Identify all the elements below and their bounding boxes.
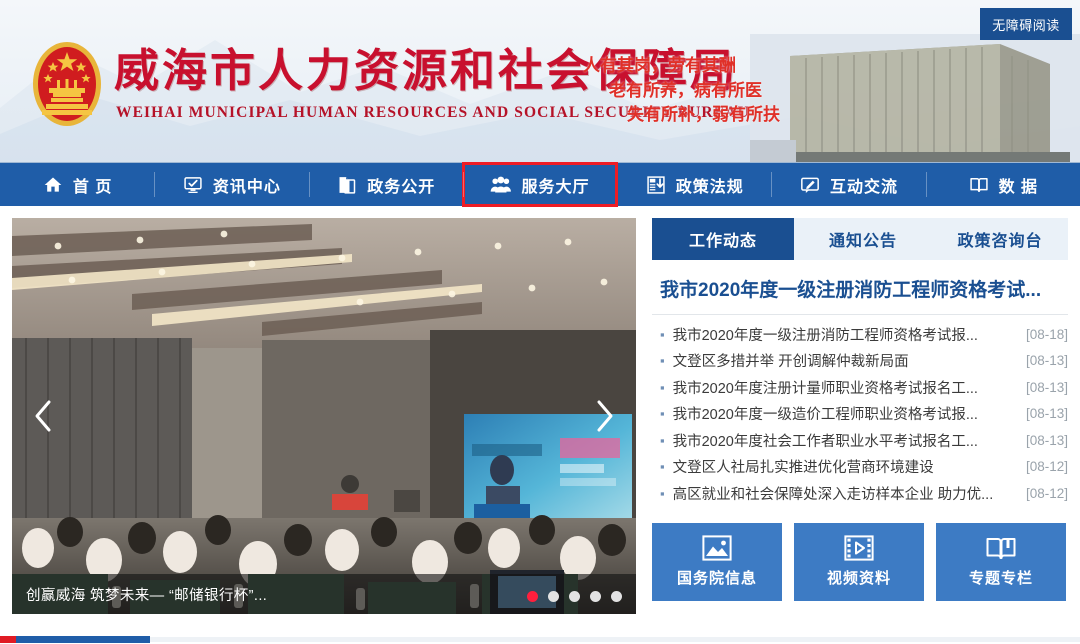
list-item[interactable]: ▪ 我市2020年度注册计量师职业资格考试报名工... [08-13] — [652, 374, 1068, 401]
chevron-right-icon — [594, 399, 616, 433]
bullet-icon: ▪ — [660, 460, 665, 473]
tab-work-updates[interactable]: 工作动态 — [652, 218, 794, 260]
hero-carousel[interactable]: 创赢威海 筑梦未来— “邮储银行杯”... — [12, 218, 636, 614]
divider-accent-blue — [16, 636, 150, 643]
home-icon — [42, 175, 64, 195]
site-header: 威海市人力资源和社会保障局 WEIHAI MUNICIPAL HUMAN RES… — [0, 0, 1080, 162]
slogan-line-3: 失有所补，弱有所扶 — [583, 103, 780, 128]
news-item-title: 我市2020年度一级注册消防工程师资格考试报... — [673, 324, 1018, 345]
card-label: 视频资料 — [827, 567, 891, 588]
nav-label-government-affairs: 政务公开 — [367, 173, 435, 197]
card-special-columns[interactable]: 专题专栏 — [936, 523, 1066, 601]
list-item[interactable]: ▪ 我市2020年度社会工作者职业水平考试报名工... [08-13] — [652, 427, 1068, 454]
list-item[interactable]: ▪ 我市2020年度一级造价工程师职业资格考试报... [08-13] — [652, 401, 1068, 428]
carousel-dot-5[interactable] — [611, 591, 622, 602]
nav-label-news-center: 资讯中心 — [213, 173, 281, 197]
news-item-date: [08-18] — [1026, 327, 1068, 342]
news-item-title: 我市2020年度一级造价工程师职业资格考试报... — [673, 403, 1018, 424]
carousel-dot-4[interactable] — [590, 591, 601, 602]
film-play-icon — [844, 535, 874, 561]
nav-item-service-hall[interactable]: 服务大厅 — [463, 163, 617, 206]
news-item-date: [08-12] — [1026, 486, 1068, 501]
nav-label-policies-regulations: 政策法规 — [676, 173, 744, 197]
main-navigation: 首 页 资讯中心 政务公开 服务大 — [0, 162, 1080, 206]
image-picture-icon — [702, 535, 732, 561]
open-book-icon — [985, 535, 1017, 561]
carousel-prev-button[interactable] — [26, 393, 60, 439]
carousel-dots — [527, 591, 622, 602]
nav-item-government-affairs[interactable]: 政务公开 — [309, 163, 463, 206]
page-root: 威海市人力资源和社会保障局 WEIHAI MUNICIPAL HUMAN RES… — [0, 0, 1080, 644]
news-item-date: [08-13] — [1026, 433, 1068, 448]
list-item[interactable]: ▪ 文登区多措并举 开创调解仲裁新局面 [08-13] — [652, 348, 1068, 375]
nav-label-interaction: 互动交流 — [830, 173, 898, 197]
carousel-photo — [12, 218, 636, 614]
nav-item-home[interactable]: 首 页 — [0, 163, 154, 206]
nav-item-policies-regulations[interactable]: 政策法规 — [617, 163, 771, 206]
news-item-title: 我市2020年度注册计量师职业资格考试报名工... — [673, 377, 1018, 398]
bullet-icon: ▪ — [660, 328, 665, 341]
divider-accent-red — [0, 636, 16, 643]
document-download-icon — [645, 175, 667, 195]
bullet-icon: ▪ — [660, 354, 665, 367]
carousel-dot-2[interactable] — [548, 591, 559, 602]
bullet-icon: ▪ — [660, 487, 665, 500]
card-label: 专题专栏 — [969, 567, 1033, 588]
card-label: 国务院信息 — [677, 567, 757, 588]
nav-label-service-hall: 服务大厅 — [521, 173, 589, 197]
national-emblem-icon — [28, 36, 106, 128]
news-headline[interactable]: 我市2020年度一级注册消防工程师资格考试... — [652, 275, 1068, 315]
accessibility-reading-button[interactable]: 无障碍阅读 — [980, 8, 1072, 40]
monitor-check-icon — [182, 175, 204, 195]
card-video-materials[interactable]: 视频资料 — [794, 523, 924, 601]
main-content: 创赢威海 筑梦未来— “邮储银行杯”... 工作动态 通知公告 政策咨询台 我市… — [0, 206, 1080, 644]
divider-rest — [150, 637, 1080, 642]
bullet-icon: ▪ — [660, 407, 665, 420]
nav-label-data: 数 据 — [999, 173, 1038, 197]
quick-link-cards: 国务院信息 视频资料 — [652, 523, 1068, 601]
chevron-left-icon — [32, 399, 54, 433]
list-item[interactable]: ▪ 高区就业和社会保障处深入走访样本企业 助力优... [08-12] — [652, 480, 1068, 507]
carousel-dot-1[interactable] — [527, 591, 538, 602]
people-group-icon — [490, 175, 512, 195]
news-item-date: [08-13] — [1026, 406, 1068, 421]
news-tabs: 工作动态 通知公告 政策咨询台 — [652, 218, 1068, 260]
bottom-section-divider — [0, 634, 1080, 644]
documents-icon — [336, 175, 358, 195]
government-building-photo — [750, 34, 1080, 162]
nav-item-data[interactable]: 数 据 — [926, 163, 1080, 206]
carousel-dot-3[interactable] — [569, 591, 580, 602]
news-item-date: [08-12] — [1026, 459, 1068, 474]
slogan-line-1: 人有其岗，劳有其酬 — [583, 56, 736, 76]
news-item-date: [08-13] — [1026, 380, 1068, 395]
tab-announcements[interactable]: 通知公告 — [794, 218, 932, 260]
tab-policy-consultation[interactable]: 政策咨询台 — [932, 218, 1068, 260]
nav-label-home: 首 页 — [73, 173, 112, 197]
news-panel: 工作动态 通知公告 政策咨询台 我市2020年度一级注册消防工程师资格考试...… — [652, 218, 1068, 601]
bullet-icon: ▪ — [660, 434, 665, 447]
nav-item-news-center[interactable]: 资讯中心 — [154, 163, 308, 206]
news-list: ▪ 我市2020年度一级注册消防工程师资格考试报... [08-18] ▪ 文登… — [652, 321, 1068, 507]
chat-pencil-icon — [799, 175, 821, 195]
news-item-title: 高区就业和社会保障处深入走访样本企业 助力优... — [673, 483, 1018, 504]
open-book-icon — [968, 175, 990, 195]
news-item-date: [08-13] — [1026, 353, 1068, 368]
carousel-next-button[interactable] — [588, 393, 622, 439]
bullet-icon: ▪ — [660, 381, 665, 394]
nav-item-interaction[interactable]: 互动交流 — [771, 163, 925, 206]
slogan-block: 人有其岗，劳有其酬 老有所养，病有所医 失有所补，弱有所扶 — [583, 54, 780, 128]
slogan-line-2: 老有所养，病有所医 — [583, 79, 780, 104]
list-item[interactable]: ▪ 我市2020年度一级注册消防工程师资格考试报... [08-18] — [652, 321, 1068, 348]
list-item[interactable]: ▪ 文登区人社局扎实推进优化营商环境建设 [08-12] — [652, 454, 1068, 481]
card-state-council-info[interactable]: 国务院信息 — [652, 523, 782, 601]
news-item-title: 文登区人社局扎实推进优化营商环境建设 — [673, 456, 1018, 477]
news-item-title: 我市2020年度社会工作者职业水平考试报名工... — [673, 430, 1018, 451]
news-item-title: 文登区多措并举 开创调解仲裁新局面 — [673, 350, 1018, 371]
